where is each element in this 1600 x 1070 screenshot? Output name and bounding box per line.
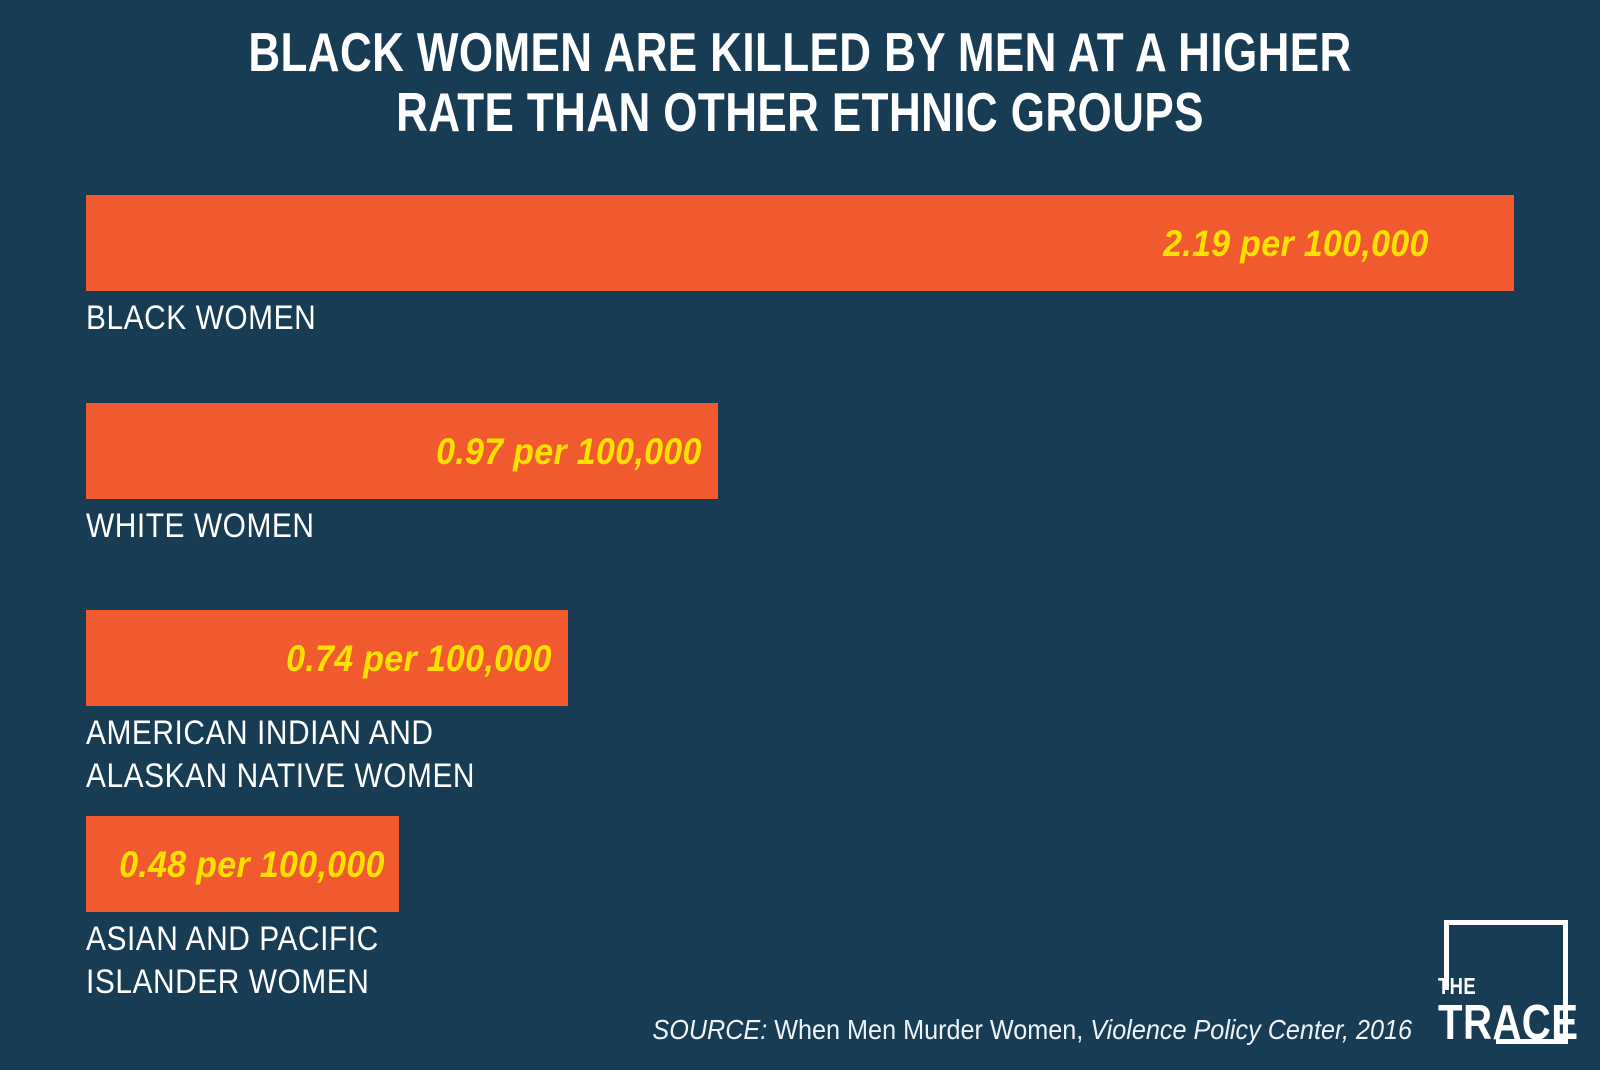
bar-value-white-women: 0.97 per 100,000 xyxy=(436,433,702,470)
bar-label-white-women: WHITE WOMEN xyxy=(86,505,642,548)
bar-asian-pacific-islander-women: 0.48 per 100,000 xyxy=(86,816,399,912)
bar-chart: 2.19 per 100,000 BLACK WOMEN 0.97 per 10… xyxy=(0,0,1600,1070)
bar-group-asian-pacific-islander-women: 0.48 per 100,000 ASIAN AND PACIFIC ISLAN… xyxy=(86,816,419,1004)
bar-value-asian-pacific-islander-women: 0.48 per 100,000 xyxy=(119,846,385,883)
bar-value-american-indian-alaskan-native-women: 0.74 per 100,000 xyxy=(286,640,552,677)
source-title: When Men Murder Women, xyxy=(767,1014,1090,1045)
logo-wordmark: THE TRACE xyxy=(1438,975,1600,1048)
bar-group-white-women: 0.97 per 100,000 WHITE WOMEN xyxy=(86,403,718,548)
bar-label-american-indian-alaskan-native-women: AMERICAN INDIAN AND ALASKAN NATIVE WOMEN xyxy=(86,712,510,798)
bar-group-american-indian-alaskan-native-women: 0.74 per 100,000 AMERICAN INDIAN AND ALA… xyxy=(86,610,568,798)
source-publication: Violence Policy Center, 2016 xyxy=(1090,1014,1412,1045)
bar-label-black-women: BLACK WOMEN xyxy=(86,297,1343,340)
bar-american-indian-alaskan-native-women: 0.74 per 100,000 xyxy=(86,610,568,706)
bar-black-women: 2.19 per 100,000 xyxy=(86,195,1514,291)
logo-word-trace: TRACE xyxy=(1438,998,1578,1048)
infographic-canvas: BLACK WOMEN ARE KILLED BY MEN AT A HIGHE… xyxy=(0,0,1600,1070)
source-keyword: SOURCE: xyxy=(652,1014,767,1045)
logo-word-the: THE xyxy=(1438,975,1575,998)
source-note: SOURCE: When Men Murder Women, Violence … xyxy=(652,1014,1412,1046)
bar-group-black-women: 2.19 per 100,000 BLACK WOMEN xyxy=(86,195,1514,340)
bar-label-asian-pacific-islander-women: ASIAN AND PACIFIC ISLANDER WOMEN xyxy=(86,918,379,1004)
bar-value-black-women: 2.19 per 100,000 xyxy=(1163,225,1429,262)
the-trace-logo: THE TRACE xyxy=(1444,920,1568,1044)
bar-white-women: 0.97 per 100,000 xyxy=(86,403,718,499)
